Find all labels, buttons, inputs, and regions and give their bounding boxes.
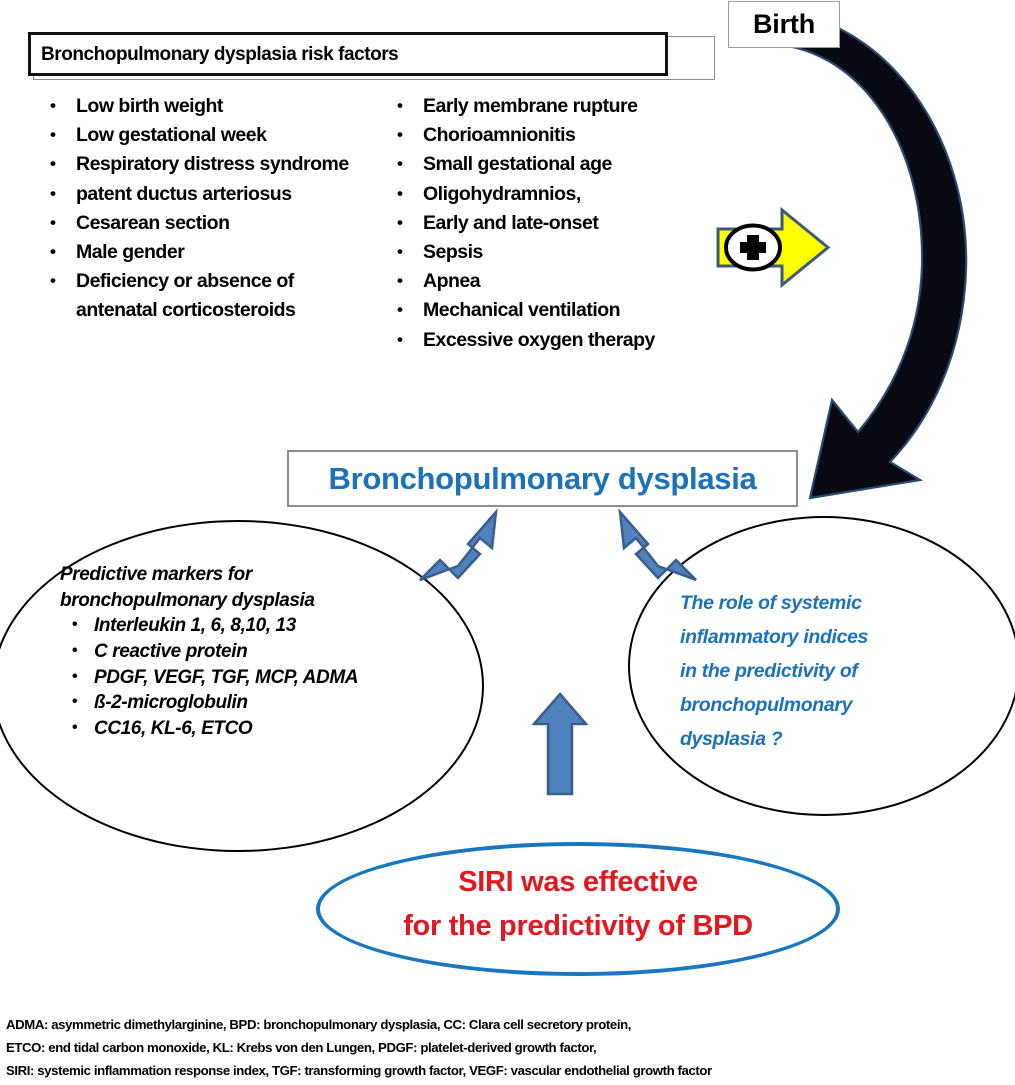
list-item: ß-2-microglobulin xyxy=(60,690,420,716)
role-line-4: bronchopulmonary xyxy=(680,688,965,722)
footnote-line-3: SIRI: systemic inflammation response ind… xyxy=(6,1059,1011,1082)
birth-label: Birth xyxy=(753,9,815,40)
role-line-1: The role of systemic xyxy=(680,586,965,620)
list-item: Early membrane rupture xyxy=(385,92,725,121)
list-item: Deficiency or absence of antenatal corti… xyxy=(38,267,368,325)
list-item: Respiratory distress syndrome xyxy=(38,150,368,179)
conclusion-line-2: for the predictivity of BPD xyxy=(330,904,826,948)
list-item: Sepsis xyxy=(385,238,725,267)
list-item: patent ductus arteriosus xyxy=(38,180,368,209)
risk-list-right: Early membrane rupture Chorioamnionitis … xyxy=(385,92,725,355)
list-item: Cesarean section xyxy=(38,209,368,238)
list-item: Mechanical ventilation xyxy=(385,296,725,325)
question-to-outcome-arrow xyxy=(612,508,698,586)
list-item: Apnea xyxy=(385,267,725,296)
list-item: Excessive oxygen therapy xyxy=(385,326,725,355)
list-item: CC16, KL-6, ETCO xyxy=(60,716,420,742)
risk-list-left: Low birth weight Low gestational week Re… xyxy=(38,92,368,326)
conclusion-to-outcome-arrow xyxy=(532,692,588,796)
role-line-2: inflammatory indices xyxy=(680,620,965,654)
list-item: Small gestational age xyxy=(385,150,725,179)
conclusion-line-1: SIRI was effective xyxy=(330,860,826,904)
diagram-canvas: Birth Bronchopulmonary dysplasia risk fa… xyxy=(0,0,1015,1085)
role-line-3: in the predictivity of xyxy=(680,654,965,688)
conclusion-content: SIRI was effective for the predictivity … xyxy=(330,860,826,948)
abbreviation-footnote: ADMA: asymmetric dimethylarginine, BPD: … xyxy=(6,1013,1011,1082)
list-item: PDGF, VEGF, TGF, MCP, ADMA xyxy=(60,665,420,691)
plus-arrow-icon xyxy=(714,205,834,290)
research-question-content: The role of systemic inflammatory indice… xyxy=(680,586,965,756)
risk-title-label: Bronchopulmonary dysplasia risk factors xyxy=(41,44,398,66)
list-item: Chorioamnionitis xyxy=(385,121,725,150)
list-item: Low birth weight xyxy=(38,92,368,121)
role-line-5: dysplasia ? xyxy=(680,722,965,756)
outcome-label: Bronchopulmonary dysplasia xyxy=(328,461,756,497)
predictive-markers-content: Predictive markers for bronchopulmonary … xyxy=(60,562,420,742)
list-item: Oligohydramnios, xyxy=(385,180,725,209)
footnote-line-1: ADMA: asymmetric dimethylarginine, BPD: … xyxy=(6,1013,1011,1036)
list-item: C reactive protein xyxy=(60,639,420,665)
markers-list: Interleukin 1, 6, 8,10, 13 C reactive pr… xyxy=(60,613,420,742)
markers-to-outcome-arrow xyxy=(418,508,498,586)
list-item: Low gestational week xyxy=(38,121,368,150)
list-item: Male gender xyxy=(38,238,368,267)
outcome-box: Bronchopulmonary dysplasia xyxy=(287,450,798,507)
list-item: Interleukin 1, 6, 8,10, 13 xyxy=(60,613,420,639)
markers-heading-line2: bronchopulmonary dysplasia xyxy=(60,588,420,614)
list-item: Early and late-onset xyxy=(385,209,725,238)
risk-factor-column-left: Low birth weight Low gestational week Re… xyxy=(38,92,368,326)
birth-box: Birth xyxy=(728,1,840,48)
risk-factor-column-right: Early membrane rupture Chorioamnionitis … xyxy=(385,92,725,355)
footnote-line-2: ETCO: end tidal carbon monoxide, KL: Kre… xyxy=(6,1036,1011,1059)
markers-heading-line1: Predictive markers for xyxy=(60,562,420,588)
